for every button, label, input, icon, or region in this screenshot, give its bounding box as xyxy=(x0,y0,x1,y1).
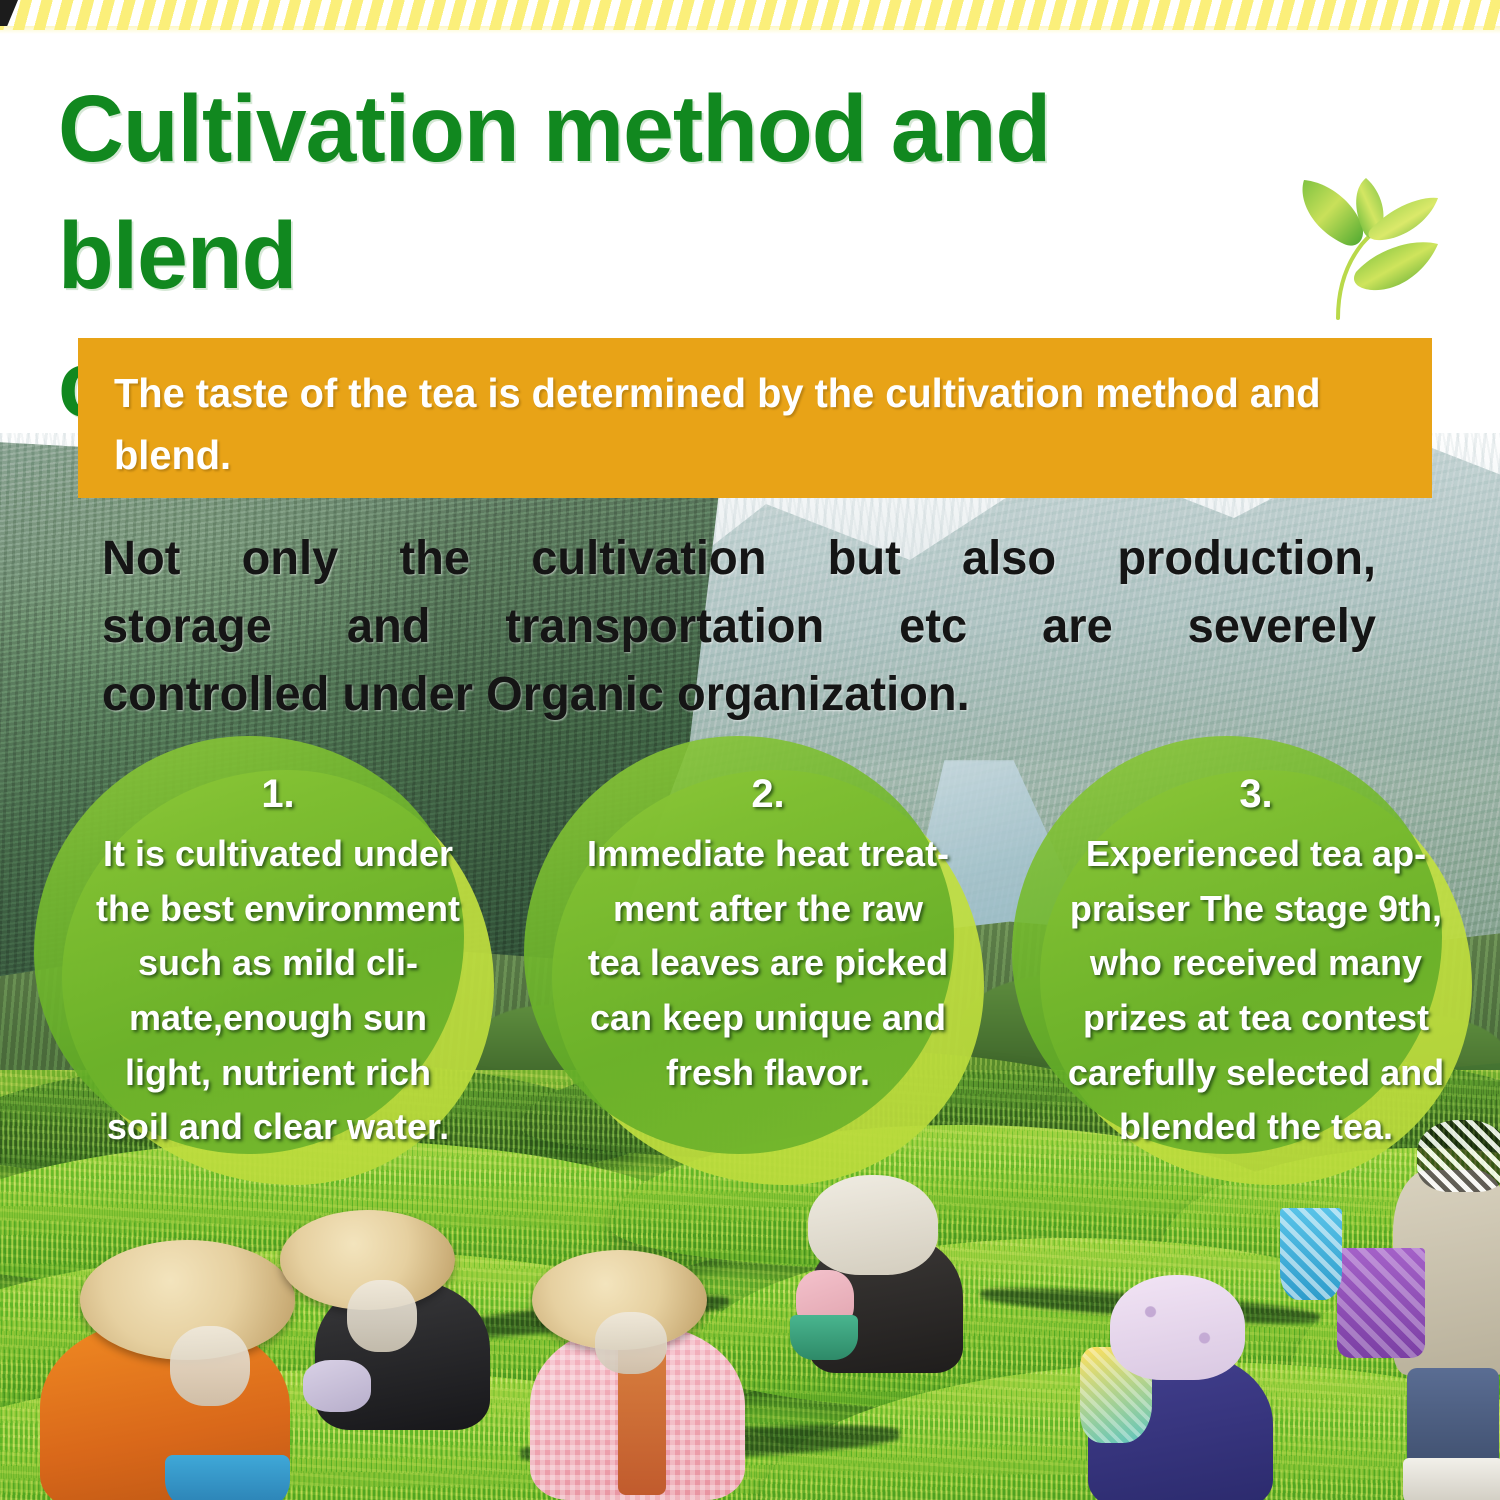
bubble-number-1: 1. xyxy=(28,764,528,825)
point-bubble-2: 2. Immediate heat treat- ment after the … xyxy=(518,730,1018,1190)
bubble-line: light, nutrient rich xyxy=(28,1046,528,1101)
worker-arm xyxy=(303,1360,371,1412)
poster-root: Cultivation method and blend of the tea … xyxy=(0,0,1500,1500)
description-paragraph: Not only the cultivation but also produc… xyxy=(102,525,1376,729)
worker-headcloth xyxy=(790,1175,1000,1375)
bubble-line: ment after the raw xyxy=(518,882,1018,937)
worker-blue xyxy=(1070,1275,1300,1500)
worker-black xyxy=(265,1210,515,1430)
bubble-line: soil and clear water. xyxy=(28,1100,528,1155)
paragraph-line-3: controlled under Organic organization. xyxy=(102,661,1376,729)
title-line-1: Cultivation method and blend xyxy=(58,66,1277,321)
point-bubble-3: 3. Experienced tea ap- praiser The stage… xyxy=(1006,730,1500,1190)
bubble-line: such as mild cli- xyxy=(28,936,528,991)
bubble-line: can keep unique and xyxy=(518,991,1018,1046)
worker-boots xyxy=(1403,1458,1500,1500)
bubble-number-3: 3. xyxy=(1006,764,1500,825)
bubble-line: who received many xyxy=(1006,936,1500,991)
bubble-line: prizes at tea contest xyxy=(1006,991,1500,1046)
stripe-fade xyxy=(0,26,1500,34)
bubble-number-2: 2. xyxy=(518,764,1018,825)
bubble-line: tea leaves are picked xyxy=(518,936,1018,991)
harvest-basket xyxy=(165,1455,290,1500)
bubble-text-3: 3. Experienced tea ap- praiser The stage… xyxy=(1006,764,1500,1155)
highlight-banner: The taste of the tea is determined by th… xyxy=(78,338,1432,498)
bubble-line: carefully selected and xyxy=(1006,1046,1500,1101)
paragraph-line-1: Not only the cultivation but also produc… xyxy=(102,525,1376,593)
neck-cloth xyxy=(595,1312,667,1374)
worker-pink xyxy=(510,1250,770,1500)
bubble-line: fresh flavor. xyxy=(518,1046,1018,1101)
bubble-line: the best environment xyxy=(28,882,528,937)
neck-cloth xyxy=(170,1326,250,1406)
bubble-line: Experienced tea ap- xyxy=(1006,827,1500,882)
banner-line-1: The taste of the tea is determined by th… xyxy=(114,370,1084,416)
blue-net-bag xyxy=(1280,1208,1342,1300)
head-cloth xyxy=(1110,1275,1245,1380)
paragraph-line-2: storage and transportation etc are sever… xyxy=(102,593,1376,661)
tea-leaf-icon xyxy=(1282,168,1452,323)
bubble-line: praiser The stage 9th, xyxy=(1006,882,1500,937)
bubble-line: blended the tea. xyxy=(1006,1100,1500,1155)
purple-basket xyxy=(1337,1248,1425,1358)
head-cloth xyxy=(808,1175,938,1275)
harvest-basket xyxy=(790,1315,858,1360)
bubble-line: Immediate heat treat- xyxy=(518,827,1018,882)
point-bubble-1: 1. It is cultivated under the best envir… xyxy=(28,730,528,1190)
bubble-text-2: 2. Immediate heat treat- ment after the … xyxy=(518,764,1018,1100)
bubble-text-1: 1. It is cultivated under the best envir… xyxy=(28,764,528,1155)
bubble-line: mate,enough sun xyxy=(28,991,528,1046)
banner-text: The taste of the tea is determined by th… xyxy=(114,362,1363,487)
bubble-line: It is cultivated under xyxy=(28,827,528,882)
neck-cloth xyxy=(347,1280,417,1352)
